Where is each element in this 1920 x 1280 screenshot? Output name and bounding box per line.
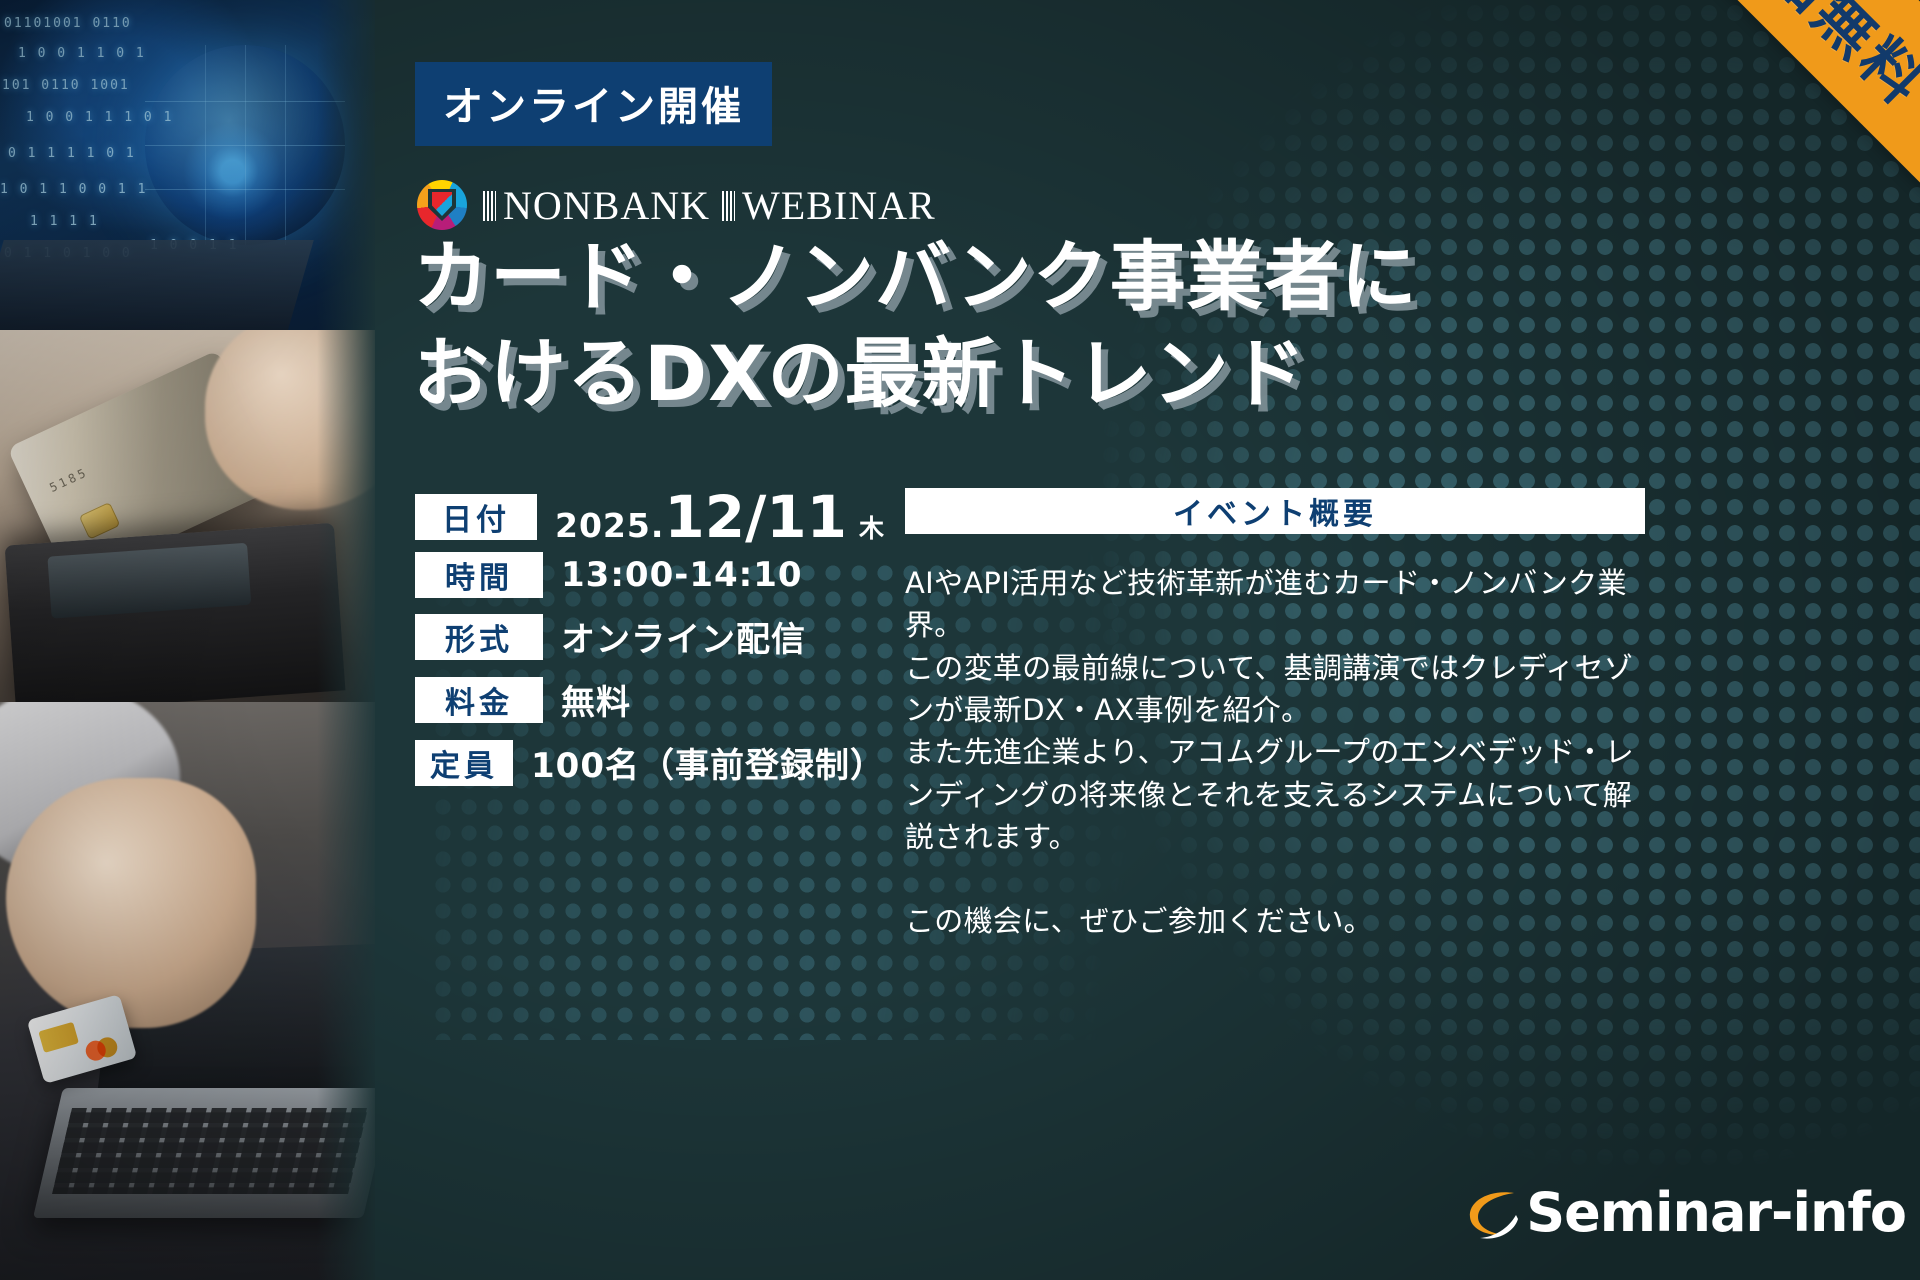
detail-value-capacity: 100名（事前登録制） (531, 738, 885, 787)
detail-value-date: 2025. 12/11 木 (555, 488, 885, 546)
date-monthday: 12/11 (664, 488, 847, 546)
detail-label-capacity: 定員 (415, 740, 513, 786)
detail-row-format: 形式 オンライン配信 (415, 612, 885, 661)
brand-word-nonbank-first: NONBANK (503, 182, 710, 229)
event-overview-cta: この機会に、ぜひご参加ください。 (905, 898, 1645, 940)
detail-row-capacity: 定員 100名（事前登録制） (415, 738, 885, 787)
brand-wordmark: NONBANK WEBINAR (483, 182, 936, 229)
detail-label-fee: 料金 (415, 677, 543, 723)
detail-value-format: オンライン配信 (561, 612, 806, 661)
event-overview-heading: イベント概要 (905, 488, 1645, 534)
hand-graphic (6, 778, 256, 1028)
brand-bars-icon (483, 191, 496, 221)
payment-terminal-graphic (5, 523, 346, 702)
photo-strip: 01101001 0110 1 0 0 1 1 0 1 101 0110 100… (0, 0, 375, 1280)
detail-label-date: 日付 (415, 494, 537, 540)
seminar-info-wordmark: Seminar-info (1526, 1181, 1906, 1244)
brand-lockup: NONBANK WEBINAR (417, 180, 936, 230)
content-column: オンライン開催 NONBANK WEBINAR カード・ノンバンク事業者に おけ… (415, 0, 1920, 1280)
event-overview-panel: イベント概要 AIやAPI活用など技術革新が進むカード・ノンバンク業界。 この変… (905, 488, 1645, 940)
detail-row-fee: 料金 無料 (415, 675, 885, 724)
detail-value-time: 13:00-14:10 (561, 555, 803, 595)
date-year: 2025. (555, 506, 664, 545)
online-event-badge: オンライン開催 (415, 62, 772, 146)
detail-row-time: 時間 13:00-14:10 (415, 552, 885, 598)
event-overview-body: AIやAPI活用など技術革新が進むカード・ノンバンク業界。 この変革の最前線につ… (905, 562, 1645, 858)
poster-canvas: 01101001 0110 1 0 0 1 1 0 1 101 0110 100… (0, 0, 1920, 1280)
detail-label-time: 時間 (415, 552, 543, 598)
date-dayofweek: 木 (859, 509, 885, 545)
swoosh-icon (1464, 1185, 1522, 1241)
page-title: カード・ノンバンク事業者に おけるDXの最新トレンド (413, 228, 1563, 423)
brand-word-webinar: WEBINAR (742, 182, 936, 229)
nonbank-swirl-logo-icon (417, 180, 467, 230)
photo-edge-fade (317, 0, 375, 1280)
photo1-laptop-shape (0, 240, 314, 330)
event-details-list: 日付 2025. 12/11 木 時間 13:00-14:10 形式 オンライン… (415, 488, 885, 801)
detail-value-fee: 無料 (561, 675, 631, 724)
seminar-info-logo: Seminar-info (1464, 1181, 1906, 1244)
detail-row-date: 日付 2025. 12/11 木 (415, 488, 885, 546)
brand-bars-icon-2 (722, 191, 735, 221)
detail-label-format: 形式 (415, 614, 543, 660)
globe-graphic (145, 45, 345, 245)
